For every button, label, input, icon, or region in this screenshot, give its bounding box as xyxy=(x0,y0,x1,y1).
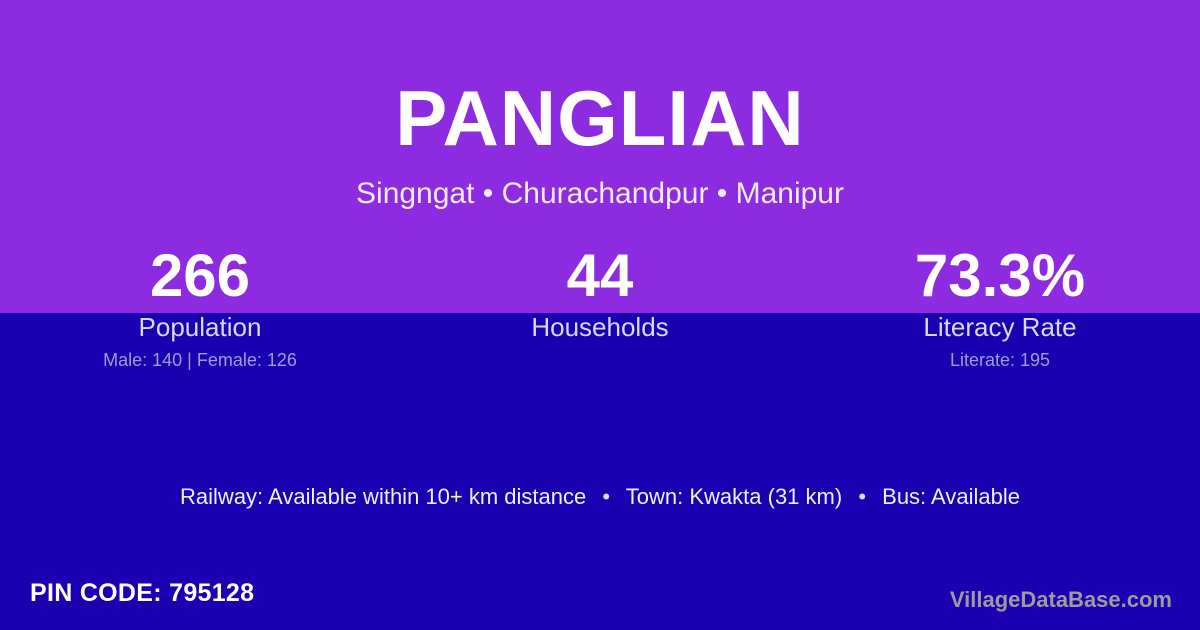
stats-row: 266 Population Male: 140 | Female: 126 4… xyxy=(0,246,1200,369)
stat-households: 44 Households xyxy=(400,246,800,369)
amenity-bus: Bus: Available xyxy=(882,484,1020,509)
stat-population: 266 Population Male: 140 | Female: 126 xyxy=(0,246,400,369)
village-info-card: PANGLIAN Singngat • Churachandpur • Mani… xyxy=(0,0,1200,630)
card-header: PANGLIAN Singngat • Churachandpur • Mani… xyxy=(0,0,1200,209)
stat-literacy-rate-label: Literacy Rate xyxy=(800,314,1200,340)
brand-watermark: VillageDataBase.com xyxy=(950,589,1172,611)
stat-literacy-rate-breakdown: Literate: 195 xyxy=(800,351,1200,369)
stat-population-breakdown: Male: 140 | Female: 126 xyxy=(0,351,400,369)
stat-households-value: 44 xyxy=(400,246,800,308)
page-title: PANGLIAN xyxy=(0,0,1200,157)
stat-literacy-rate: 73.3% Literacy Rate Literate: 195 xyxy=(800,246,1200,369)
card-footer: PIN CODE: 795128 VillageDataBase.com xyxy=(0,575,1200,630)
breadcrumb: Singngat • Churachandpur • Manipur xyxy=(0,157,1200,209)
pin-code-label: PIN CODE: 795128 xyxy=(30,581,254,606)
stat-population-label: Population xyxy=(0,314,400,340)
stat-literacy-rate-value: 73.3% xyxy=(800,246,1200,308)
amenities-line: Railway: Available within 10+ km distanc… xyxy=(0,486,1200,508)
amenity-railway: Railway: Available within 10+ km distanc… xyxy=(180,484,586,509)
amenity-separator-2: • xyxy=(848,484,876,509)
amenity-separator-1: • xyxy=(592,484,620,509)
stat-households-label: Households xyxy=(400,314,800,340)
stat-population-value: 266 xyxy=(0,246,400,308)
amenity-town: Town: Kwakta (31 km) xyxy=(626,484,842,509)
stat-households-breakdown xyxy=(400,351,800,369)
